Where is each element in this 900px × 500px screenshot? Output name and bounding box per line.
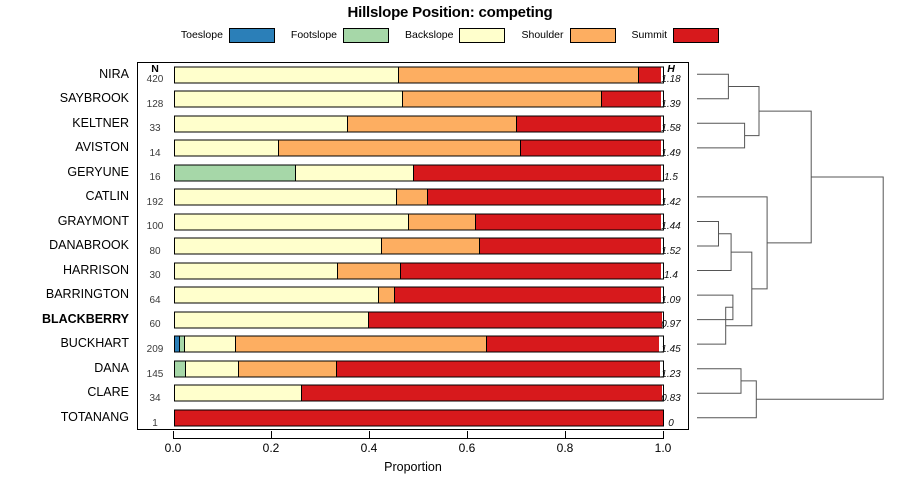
bar-segment-backslope[interactable]	[175, 214, 409, 229]
x-tick	[565, 431, 566, 439]
row-h-value: 1.52	[654, 235, 688, 258]
bar-segment-backslope[interactable]	[175, 288, 379, 303]
row-n-value: 60	[138, 308, 172, 331]
dendrogram-link	[697, 74, 728, 99]
bar-segment-backslope[interactable]	[175, 386, 302, 401]
bar-segment-backslope[interactable]	[175, 312, 369, 327]
legend-swatch-icon	[459, 28, 505, 43]
x-tick	[173, 431, 174, 439]
bar-segment-backslope[interactable]	[175, 141, 279, 156]
dendrogram-link	[756, 177, 883, 399]
plot-panel: N H 4201.181281.39331.58141.49161.51921.…	[137, 62, 689, 430]
bar-segment-backslope[interactable]	[185, 361, 239, 376]
bar-segment-backslope[interactable]	[184, 337, 237, 352]
x-tick-label: 0.6	[459, 441, 476, 455]
row-bar-area	[174, 88, 664, 111]
bar-segment-shoulder[interactable]	[381, 239, 480, 254]
x-axis-title: Proportion	[137, 460, 689, 474]
row-bar-area	[174, 186, 664, 209]
chart-row: 641.09	[138, 284, 688, 307]
y-axis-label-dana: DANA	[0, 356, 129, 379]
bar-segment-summit[interactable]	[413, 165, 661, 180]
chart-root: Hillslope Position: competing ToeslopeFo…	[0, 0, 900, 500]
legend-label: Footslope	[291, 29, 337, 41]
bar-segment-shoulder[interactable]	[337, 263, 401, 278]
chart-row: 331.58	[138, 112, 688, 135]
bar-segment-summit[interactable]	[520, 141, 661, 156]
y-axis-label-geryune: GERYUNE	[0, 160, 129, 183]
dendrogram-link	[697, 381, 756, 418]
row-bar-area	[174, 308, 664, 331]
row-n-value: 16	[138, 161, 172, 184]
row-h-value: 1.45	[654, 333, 688, 356]
row-h-value: 1.44	[654, 210, 688, 233]
row-bar-area	[174, 259, 664, 282]
legend-item-backslope[interactable]: Backslope	[405, 28, 505, 43]
dendrogram-link	[697, 197, 767, 289]
bar-segment-backslope[interactable]	[175, 190, 397, 205]
legend: ToeslopeFootslopeBackslopeShoulderSummit	[0, 26, 900, 44]
bar-segment-summit[interactable]	[475, 214, 661, 229]
row-n-value: 34	[138, 382, 172, 405]
dendrogram-link	[697, 369, 741, 394]
row-bar-area	[174, 161, 664, 184]
x-tick	[467, 431, 468, 439]
bar-segment-shoulder[interactable]	[402, 92, 602, 107]
bar-segment-summit[interactable]	[336, 361, 660, 376]
y-axis-label-graymont: GRAYMONT	[0, 209, 129, 232]
bar-segment-backslope[interactable]	[175, 116, 348, 131]
bar-segment-shoulder[interactable]	[235, 337, 486, 352]
chart-row: 2091.45	[138, 333, 688, 356]
legend-item-shoulder[interactable]: Shoulder	[521, 28, 615, 43]
row-n-value: 64	[138, 284, 172, 307]
bar-segment-summit[interactable]	[368, 312, 662, 327]
row-h-value: 1.09	[654, 284, 688, 307]
stacked-bar[interactable]	[174, 262, 664, 279]
legend-swatch-icon	[229, 28, 275, 43]
bar-segment-backslope[interactable]	[175, 263, 338, 278]
x-tick-label: 0.4	[361, 441, 378, 455]
bar-segment-shoulder[interactable]	[347, 116, 517, 131]
dendrogram	[697, 62, 893, 430]
bar-segment-backslope[interactable]	[175, 67, 399, 82]
row-bar-area	[174, 406, 664, 429]
bar-segment-summit[interactable]	[427, 190, 661, 205]
x-axis: 0.00.20.40.60.81.0 Proportion	[137, 430, 689, 476]
row-h-value: 1.42	[654, 186, 688, 209]
bar-segment-summit[interactable]	[479, 239, 661, 254]
stacked-bar[interactable]	[174, 410, 664, 427]
dendrogram-link	[697, 222, 719, 247]
chart-row: 1281.39	[138, 88, 688, 111]
row-h-value: 1.23	[654, 357, 688, 380]
legend-item-toeslope[interactable]: Toeslope	[181, 28, 275, 43]
chart-row: 340.83	[138, 382, 688, 405]
chart-row: 600.97	[138, 308, 688, 331]
legend-label: Shoulder	[521, 29, 563, 41]
row-n-value: 33	[138, 112, 172, 135]
row-bar-area	[174, 357, 664, 380]
bar-segment-summit[interactable]	[486, 337, 659, 352]
row-n-value: 14	[138, 137, 172, 160]
stacked-bar[interactable]	[174, 115, 664, 132]
legend-swatch-icon	[343, 28, 389, 43]
row-h-value: 0	[654, 406, 688, 429]
stacked-bar[interactable]	[174, 311, 664, 328]
row-h-value: 0.83	[654, 382, 688, 405]
x-tick-label: 0.0	[165, 441, 182, 455]
x-tick-label: 0.2	[263, 441, 280, 455]
y-axis-label-harrison: HARRISON	[0, 258, 129, 281]
stacked-bar[interactable]	[174, 91, 664, 108]
bar-segment-shoulder[interactable]	[378, 288, 395, 303]
legend-swatch-icon	[673, 28, 719, 43]
dendrogram-link	[697, 234, 731, 271]
legend-item-summit[interactable]: Summit	[632, 28, 720, 43]
row-h-value: 1.39	[654, 88, 688, 111]
row-n-value: 420	[138, 63, 172, 86]
bar-segment-summit[interactable]	[394, 288, 661, 303]
bar-segment-backslope[interactable]	[175, 92, 403, 107]
y-axis-label-danabrook: DANABROOK	[0, 234, 129, 257]
bar-segment-backslope[interactable]	[175, 239, 382, 254]
row-n-value: 80	[138, 235, 172, 258]
row-h-value: 1.5	[654, 161, 688, 184]
bar-segment-shoulder[interactable]	[398, 67, 639, 82]
stacked-bar[interactable]	[174, 189, 664, 206]
bar-segment-shoulder[interactable]	[408, 214, 476, 229]
stacked-bar[interactable]	[174, 140, 664, 157]
chart-row: 4201.18	[138, 63, 688, 86]
stacked-bar[interactable]	[174, 287, 664, 304]
chart-row: 801.52	[138, 235, 688, 258]
chart-row: 1001.44	[138, 210, 688, 233]
legend-label: Toeslope	[181, 29, 223, 41]
row-n-value: 209	[138, 333, 172, 356]
legend-swatch-icon	[570, 28, 616, 43]
chart-title: Hillslope Position: competing	[0, 4, 900, 21]
row-n-value: 100	[138, 210, 172, 233]
y-axis-label-clare: CLARE	[0, 381, 129, 404]
y-axis-label-barrington: BARRINGTON	[0, 283, 129, 306]
x-tick-label: 0.8	[557, 441, 574, 455]
bar-segment-footslope[interactable]	[175, 165, 296, 180]
y-axis-label-nira: NIRA	[0, 62, 129, 85]
row-n-value: 192	[138, 186, 172, 209]
row-h-value: 1.4	[654, 259, 688, 282]
bar-segment-summit[interactable]	[601, 92, 661, 107]
legend-label: Summit	[632, 29, 668, 41]
row-n-value: 145	[138, 357, 172, 380]
stacked-bar-rows: 4201.181281.39331.58141.49161.51921.4210…	[138, 63, 688, 429]
y-axis-label-buckhart: BUCKHART	[0, 332, 129, 355]
bar-segment-summit[interactable]	[516, 116, 661, 131]
row-n-value: 1	[138, 406, 172, 429]
y-axis-label-saybrook: SAYBROOK	[0, 87, 129, 110]
chart-row: 1921.42	[138, 186, 688, 209]
stacked-bar[interactable]	[174, 385, 664, 402]
row-n-value: 128	[138, 88, 172, 111]
row-bar-area	[174, 235, 664, 258]
x-tick	[663, 431, 664, 439]
row-bar-area	[174, 112, 664, 135]
chart-row: 10	[138, 406, 688, 429]
row-h-value: 0.97	[654, 308, 688, 331]
bar-segment-shoulder[interactable]	[396, 190, 428, 205]
x-axis-line	[173, 438, 663, 439]
row-bar-area	[174, 63, 664, 86]
bar-segment-shoulder[interactable]	[238, 361, 337, 376]
dendrogram-link	[726, 252, 752, 326]
stacked-bar[interactable]	[174, 238, 664, 255]
bar-segment-summit[interactable]	[400, 263, 661, 278]
row-n-value: 30	[138, 259, 172, 282]
row-bar-area	[174, 333, 664, 356]
row-bar-area	[174, 137, 664, 160]
row-bar-area	[174, 284, 664, 307]
stacked-bar[interactable]	[174, 66, 664, 83]
stacked-bar[interactable]	[174, 164, 664, 181]
bar-segment-summit[interactable]	[175, 411, 663, 426]
y-axis-label-keltner: KELTNER	[0, 111, 129, 134]
dendrogram-link	[728, 87, 759, 136]
x-tick	[271, 431, 272, 439]
x-tick	[369, 431, 370, 439]
legend-item-footslope[interactable]: Footslope	[291, 28, 389, 43]
chart-row: 141.49	[138, 137, 688, 160]
y-axis-labels: NIRASAYBROOKKELTNERAVISTONGERYUNECATLING…	[0, 62, 133, 430]
row-bar-area	[174, 382, 664, 405]
bar-segment-summit[interactable]	[301, 386, 662, 401]
row-h-value: 1.58	[654, 112, 688, 135]
x-tick-label: 1.0	[655, 441, 672, 455]
chart-row: 301.4	[138, 259, 688, 282]
bar-segment-backslope[interactable]	[295, 165, 415, 180]
y-axis-label-totanang: TOTANANG	[0, 405, 129, 428]
y-axis-label-blackberry: BLACKBERRY	[0, 307, 129, 330]
stacked-bar[interactable]	[174, 336, 664, 353]
y-axis-label-aviston: AVISTON	[0, 136, 129, 159]
y-axis-label-catlin: CATLIN	[0, 185, 129, 208]
legend-label: Backslope	[405, 29, 453, 41]
stacked-bar[interactable]	[174, 360, 664, 377]
chart-row: 161.5	[138, 161, 688, 184]
dendrogram-link	[697, 123, 745, 148]
row-h-value: 1.49	[654, 137, 688, 160]
row-h-value: 1.18	[654, 63, 688, 86]
chart-row: 1451.23	[138, 357, 688, 380]
bar-segment-shoulder[interactable]	[278, 141, 521, 156]
stacked-bar[interactable]	[174, 213, 664, 230]
row-bar-area	[174, 210, 664, 233]
